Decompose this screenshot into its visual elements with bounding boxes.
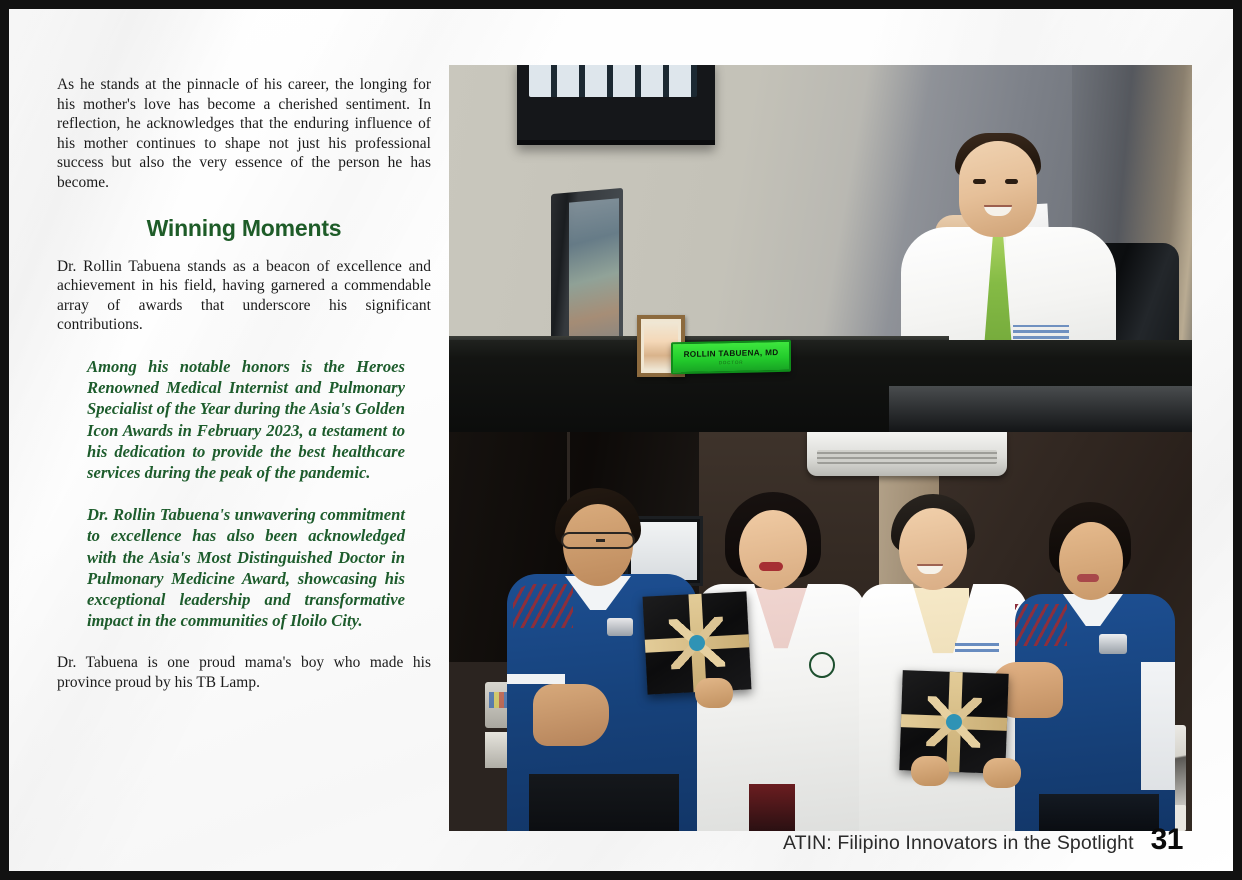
hand-holding-gift-left: [695, 678, 733, 708]
coat-emblem: [809, 652, 835, 678]
section-heading: Winning Moments: [57, 215, 431, 242]
eye-left: [973, 179, 986, 184]
eye-right: [1005, 179, 1018, 184]
chest-badge: [1099, 634, 1127, 654]
lips: [1077, 574, 1099, 582]
sleeve-cuff: [507, 674, 565, 684]
face: [899, 508, 967, 590]
photo-group-with-gifts: [449, 432, 1192, 831]
highlight-paragraph-2: Dr. Rollin Tabuena's unwavering commitme…: [87, 504, 405, 631]
chest-badge: [607, 618, 633, 636]
closing-paragraph: Dr. Tabuena is one proud mama's boy who …: [57, 653, 431, 692]
face: [959, 141, 1037, 237]
lead-paragraph: Dr. Rollin Tabuena stands as a beacon of…: [57, 257, 431, 335]
nameplate-name-text: ROLLIN TABUENA, MD: [684, 348, 779, 359]
photo-doctor-at-desk: ROLLIN TABUENA, MD DOCTOR: [449, 65, 1192, 432]
coat-embroidery: [1013, 325, 1069, 339]
ac-vent: [817, 450, 997, 464]
photo-stack: ROLLIN TABUENA, MD DOCTOR: [449, 65, 1192, 831]
air-conditioner: [807, 432, 1007, 476]
forearm: [533, 684, 609, 746]
coat-embroidery: [955, 640, 999, 652]
hand-holding-gift-right: [911, 756, 949, 786]
page-frame: As he stands at the pinnacle of his care…: [0, 0, 1242, 880]
xray-films: [529, 65, 697, 97]
page-footer: ATIN: Filipino Innovators in the Spotlig…: [783, 823, 1183, 857]
eyeglasses-icon: [561, 532, 635, 549]
highlight-paragraph-1: Among his notable honors is the Heroes R…: [87, 356, 405, 483]
desk-nameplate: ROLLIN TABUENA, MD DOCTOR: [671, 340, 791, 375]
shoulder-stripes: [1015, 604, 1067, 646]
hand-holding-gift-right-2: [983, 758, 1021, 788]
trousers: [529, 774, 679, 831]
intro-paragraph: As he stands at the pinnacle of his care…: [57, 75, 431, 193]
lips: [759, 562, 783, 571]
magazine-page: As he stands at the pinnacle of his care…: [9, 9, 1233, 871]
xray-lightbox: [517, 65, 715, 145]
face: [739, 510, 807, 590]
glass-desktop: [889, 386, 1192, 432]
person-woman-blue-polo: [1015, 502, 1175, 831]
nameplate-subtitle-text: DOCTOR: [719, 360, 744, 366]
face: [1059, 522, 1123, 600]
article-text-column: As he stands at the pinnacle of his care…: [57, 75, 431, 693]
page-number: 31: [1151, 823, 1183, 857]
polo-side-panel: [1141, 662, 1175, 790]
gift-box-left: [643, 591, 752, 694]
footer-title: ATIN: Filipino Innovators in the Spotlig…: [783, 832, 1134, 855]
shoulder-stripes: [513, 584, 573, 628]
